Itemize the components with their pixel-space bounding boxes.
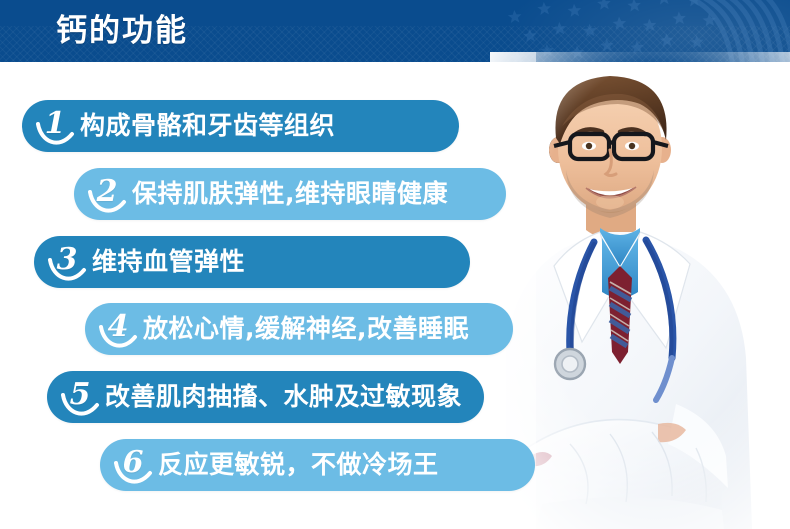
benefit-item-4[interactable]: 4 放松心情,缓解神经,改善睡眠	[85, 303, 513, 355]
benefit-text-1: 构成骨骼和牙齿等组织	[80, 100, 357, 152]
benefit-number-2: 2	[84, 168, 130, 220]
benefit-number-6: 6	[110, 439, 156, 491]
benefit-text-4: 放松心情,缓解神经,改善睡眠	[143, 303, 491, 355]
header-banner: 钙的功能	[0, 0, 790, 62]
benefit-item-1[interactable]: 1 构成骨骼和牙齿等组织	[22, 100, 459, 152]
benefit-number-4: 4	[95, 303, 141, 355]
benefit-item-3[interactable]: 3 维持血管弹性	[34, 236, 470, 288]
benefit-number-badge-5: 5	[57, 371, 103, 423]
doctor-photo	[490, 52, 790, 529]
benefit-item-2[interactable]: 2 保持肌肤弹性,维持眼睛健康	[74, 168, 506, 220]
benefit-number-badge-6: 6	[110, 439, 156, 491]
benefit-number-badge-3: 3	[44, 236, 90, 288]
benefit-number-badge-4: 4	[95, 303, 141, 355]
benefit-item-6[interactable]: 6 反应更敏锐，不做冷场王	[100, 439, 535, 491]
benefit-item-5[interactable]: 5 改善肌肉抽搐、水肿及过敏现象	[47, 371, 484, 423]
page-title: 钙的功能	[56, 9, 188, 53]
benefit-text-5: 改善肌肉抽搐、水肿及过敏现象	[105, 371, 484, 423]
benefit-number-3: 3	[44, 236, 90, 288]
benefit-number-badge-1: 1	[32, 100, 78, 152]
calcium-benefits-poster: 钙的功能	[0, 0, 790, 529]
flag-stripes-icon	[680, 0, 790, 62]
benefit-text-2: 保持肌肤弹性,维持眼睛健康	[132, 168, 470, 220]
benefit-number-5: 5	[57, 371, 103, 423]
benefit-number-1: 1	[32, 100, 78, 152]
benefit-text-3: 维持血管弹性	[92, 236, 267, 288]
benefit-text-6: 反应更敏锐，不做冷场王	[158, 439, 461, 491]
benefit-number-badge-2: 2	[84, 168, 130, 220]
